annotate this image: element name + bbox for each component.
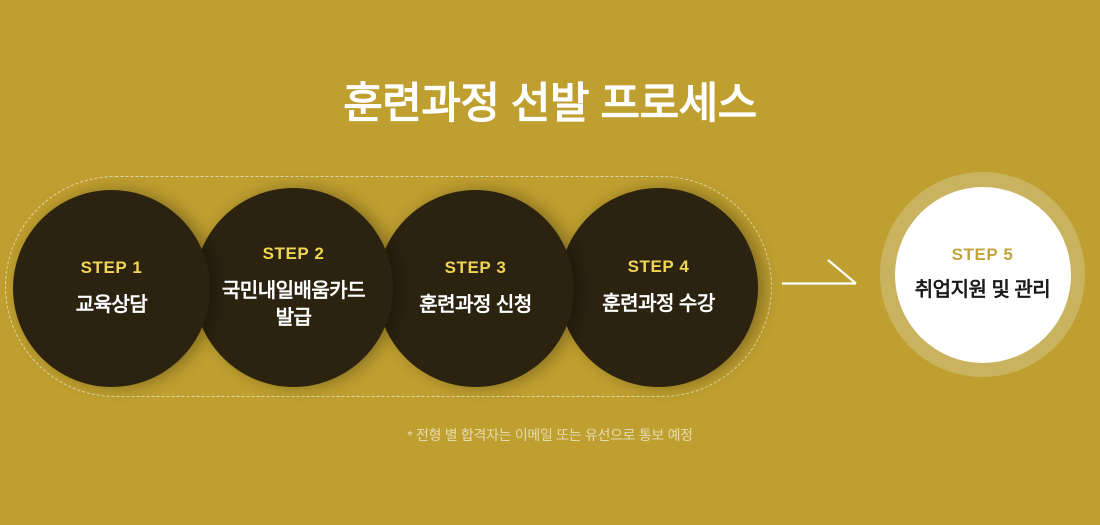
step-title-2: 국민내일배움카드 발급 (222, 278, 365, 332)
step-circle-3[interactable]: STEP 3 훈련과정 신청 (377, 190, 574, 387)
step-label-3: STEP 3 (445, 258, 507, 278)
step-circle-4[interactable]: STEP 4 훈련과정 수강 (559, 188, 758, 387)
footnote-text: * 전형 별 합격자는 이메일 또는 유선으로 통보 예정 (0, 425, 1100, 445)
arrow-right-icon (780, 258, 865, 306)
step-title-5: 취업지원 및 관리 (915, 277, 1050, 304)
step-circle-5-inner: STEP 5 취업지원 및 관리 (895, 187, 1071, 363)
process-infographic: 훈련과정 선발 프로세스 STEP 1 교육상담 STEP 2 국민내일배움카드… (0, 0, 1100, 525)
step-title-3: 훈련과정 신청 (419, 292, 531, 319)
step-title-1: 교육상담 (76, 292, 148, 319)
step-circle-2[interactable]: STEP 2 국민내일배움카드 발급 (194, 188, 393, 387)
step-circle-5[interactable]: STEP 5 취업지원 및 관리 (880, 172, 1085, 377)
step-label-5: STEP 5 (952, 245, 1014, 265)
page-title: 훈련과정 선발 프로세스 (0, 78, 1100, 130)
step-label-4: STEP 4 (628, 257, 690, 277)
step-label-1: STEP 1 (81, 258, 143, 278)
step-title-4: 훈련과정 수강 (602, 291, 714, 318)
step-label-2: STEP 2 (263, 244, 325, 264)
step-circle-1[interactable]: STEP 1 교육상담 (13, 190, 210, 387)
